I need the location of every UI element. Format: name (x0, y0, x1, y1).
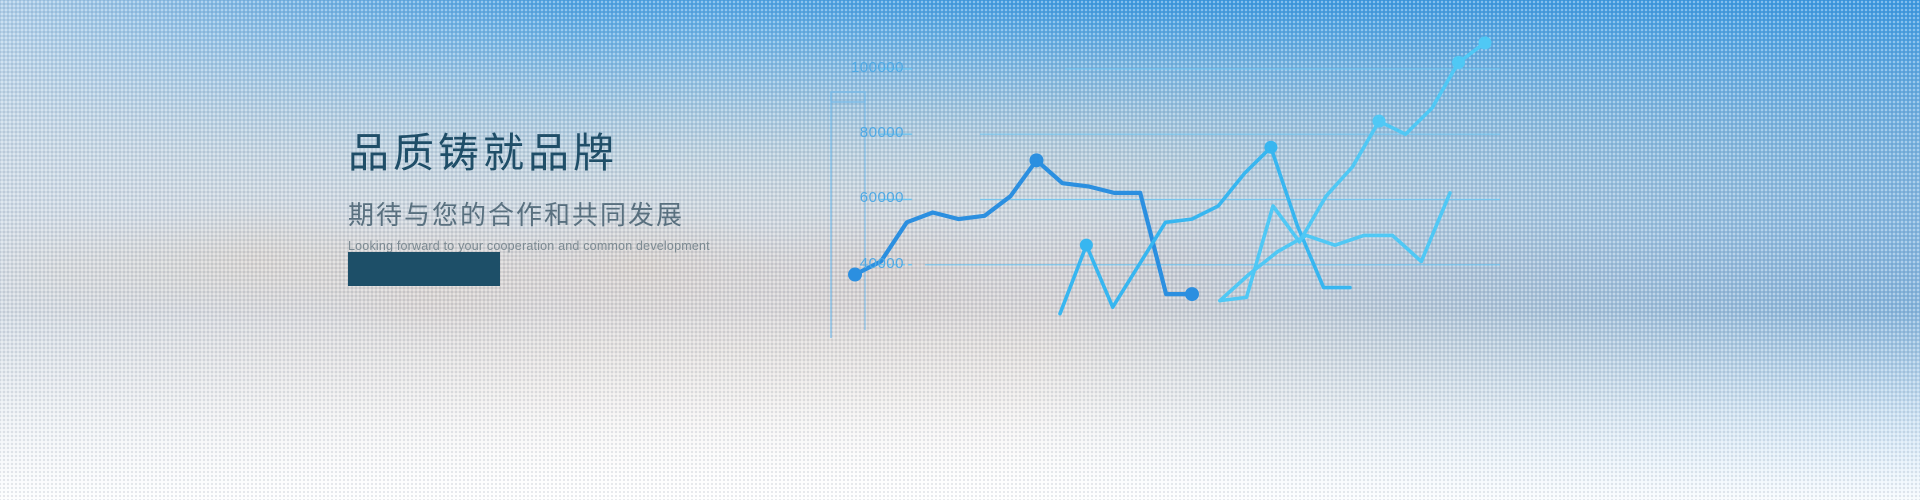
banner-copy: 品质铸就品牌 期待与您的合作和共同发展 Looking forward to y… (348, 128, 808, 253)
chart-gridlines (880, 69, 1500, 265)
chart-canvas (820, 0, 1920, 500)
banner-subtitle: 期待与您的合作和共同发展 (348, 195, 808, 232)
chart-y-tick-label: 100000 (820, 59, 904, 76)
page-title: 品质铸就品牌 (348, 128, 808, 179)
chart-y-tick-label: 60000 (820, 189, 904, 206)
chart-y-tick-label: 40000 (820, 255, 904, 272)
hero-banner: 100000800006000040000 品质铸就品牌 期待与您的合作和共同发… (0, 0, 1920, 500)
line-chart: 100000800006000040000 (820, 0, 1920, 500)
cta-button[interactable] (348, 252, 500, 286)
chart-series (848, 36, 1492, 313)
chart-y-tick-label: 80000 (820, 124, 904, 141)
